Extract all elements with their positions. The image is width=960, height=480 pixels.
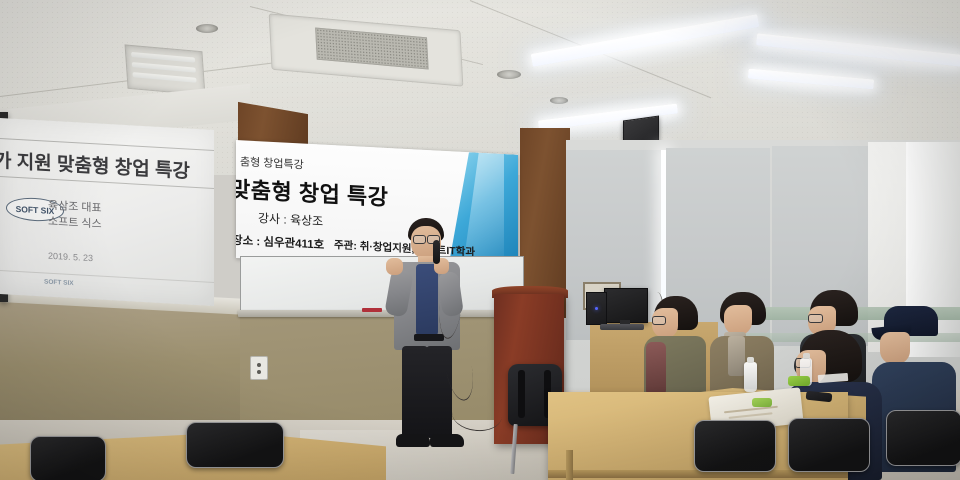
lecturer-glasses (413, 235, 426, 244)
recessed-spotlight-icon (196, 24, 218, 33)
chair-back (30, 436, 106, 480)
lecturer-shoe-left (396, 434, 430, 447)
lecturer-belt (414, 334, 444, 341)
lecturer-leg-left (402, 346, 428, 438)
attendee-1-glasses (652, 316, 666, 325)
chair-back (886, 410, 960, 466)
chair-back (186, 422, 284, 468)
lecturer-hand-left (386, 258, 403, 275)
table-leg (566, 450, 573, 480)
lecturer-shoe-right (430, 434, 464, 447)
chair-back (788, 418, 870, 472)
banner-line-venue: 장소 : 심우관411호 (236, 232, 324, 253)
slide-company: 소프트 식스 (48, 213, 102, 232)
computer-tower (586, 292, 607, 325)
recessed-spotlight-icon (550, 97, 568, 104)
recessed-spotlight-icon (497, 70, 521, 79)
event-banner: 춤형 창업특강 맞춤형 창업 특강 강사 : 육상조 장소 : 심우관411호 … (236, 140, 518, 273)
water-bottle (744, 362, 757, 392)
projection-screen: 가 지원 맞춤형 창업 특강 SOFT SIX 육삼조 대표 소프트 식스 20… (0, 118, 214, 306)
keyboard (600, 324, 644, 330)
chair-back (694, 420, 776, 472)
ceiling-light-troffer (125, 44, 206, 95)
slide-date: 2019. 5. 23 (48, 251, 93, 264)
green-pouch (752, 398, 772, 407)
microphone (433, 240, 440, 264)
attendee-2-face (724, 305, 752, 335)
wall-power-outlet (250, 356, 268, 380)
lecturer-shirt (416, 264, 438, 336)
banner-line-speaker: 강사 : 육상조 (258, 209, 323, 229)
attendee-1-inner-shirt (646, 342, 666, 396)
banner-line-small: 춤형 창업특강 (240, 153, 304, 172)
attendee-2-scarf-tail (728, 336, 745, 376)
green-pouch (788, 376, 810, 386)
slide-footer-logo: SOFT SIX (44, 278, 74, 287)
attendee-3-glasses (808, 314, 823, 323)
banner-line-large: 맞춤형 창업 특강 (236, 172, 388, 212)
lecture-room-photo: 가 지원 맞춤형 창업 특강 SOFT SIX 육삼조 대표 소프트 식스 20… (0, 0, 960, 480)
